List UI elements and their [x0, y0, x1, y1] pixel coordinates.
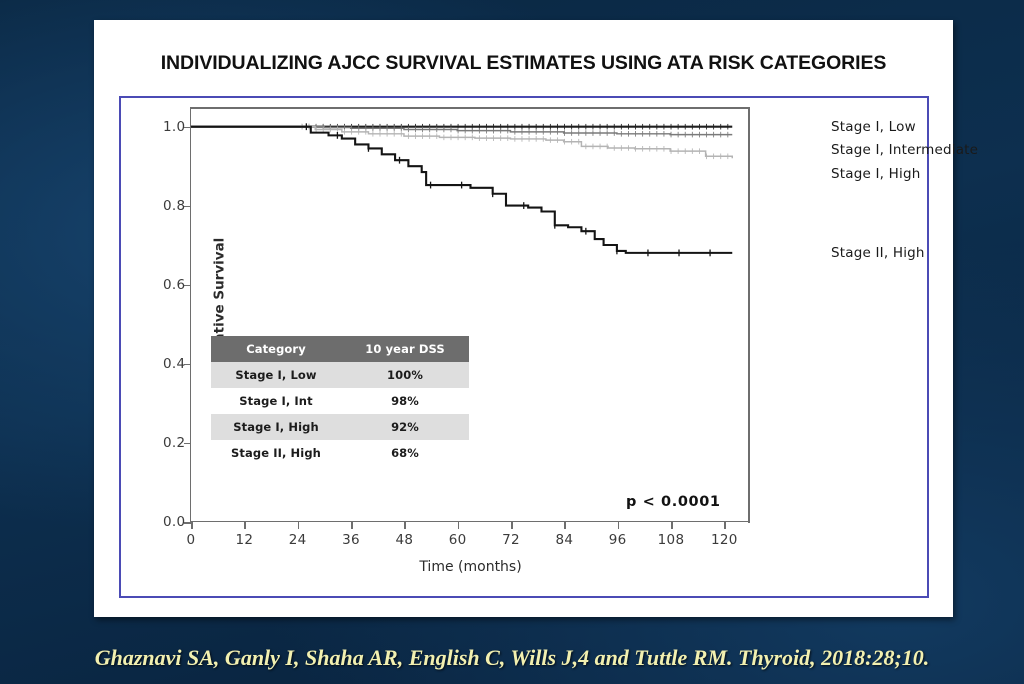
x-tick-label: 120	[711, 532, 738, 548]
x-tick-label: 0	[187, 532, 196, 548]
y-tick-label: 0.0	[163, 514, 185, 530]
x-tick	[458, 521, 460, 529]
x-tick-label: 108	[658, 532, 685, 548]
table-row: Stage I, Int98%	[211, 388, 469, 414]
table-cell-category: Stage II, High	[211, 440, 341, 466]
survival-curve	[191, 127, 732, 135]
legend-entry-3: Stage I, High	[831, 166, 921, 182]
x-tick	[298, 521, 300, 529]
x-tick-label: 36	[342, 532, 360, 548]
legend-entry-1: Stage I, Low	[831, 119, 916, 135]
table-row: Stage I, High92%	[211, 414, 469, 440]
p-value-annotation: p < 0.0001	[626, 494, 721, 510]
x-axis-title: Time (months)	[419, 559, 521, 575]
y-tick-label: 0.8	[163, 198, 185, 214]
table-header-row: Category 10 year DSS	[211, 336, 469, 362]
survival-curve	[191, 127, 732, 253]
x-tick-label: 24	[289, 532, 307, 548]
table-header-dss: 10 year DSS	[341, 336, 469, 362]
y-tick-label: 0.4	[163, 356, 185, 372]
x-tick	[191, 521, 193, 529]
table-cell-category: Stage I, Low	[211, 362, 341, 388]
table-cell-dss: 68%	[341, 440, 469, 466]
table-cell-dss: 92%	[341, 414, 469, 440]
x-tick-label: 96	[609, 532, 627, 548]
y-tick-label: 0.6	[163, 277, 185, 293]
x-tick-label: 60	[449, 532, 467, 548]
x-tick-label: 12	[235, 532, 253, 548]
censor-marks	[306, 123, 710, 256]
x-tick	[511, 521, 513, 529]
y-tick-label: 0.2	[163, 435, 185, 451]
x-tick-label: 48	[395, 532, 413, 548]
x-tick-label: 72	[502, 532, 520, 548]
legend-entry-2: Stage I, Intermediate	[831, 142, 978, 158]
legend-entry-4: Stage II, High	[831, 245, 925, 261]
chart-legend: Stage I, LowStage I, IntermediateStage I…	[831, 107, 1006, 521]
table-row: Stage I, Low100%	[211, 362, 469, 388]
citation: Ghaznavi SA, Ganly I, Shaha AR, English …	[0, 645, 1024, 671]
x-tick	[564, 521, 566, 529]
slide-card: INDIVIDUALIZING AJCC SURVIVAL ESTIMATES …	[94, 20, 953, 617]
x-tick	[244, 521, 246, 529]
x-tick	[671, 521, 673, 529]
page-title: INDIVIDUALIZING AJCC SURVIVAL ESTIMATES …	[94, 52, 953, 75]
x-tick	[351, 521, 353, 529]
table-header-category: Category	[211, 336, 341, 362]
x-tick-label: 84	[555, 532, 573, 548]
survival-curve	[191, 127, 732, 159]
x-tick	[724, 521, 726, 529]
x-tick	[404, 521, 406, 529]
dss-summary-table: Category 10 year DSS Stage I, Low100%Sta…	[211, 336, 469, 466]
table-cell-category: Stage I, Int	[211, 388, 341, 414]
y-tick-label: 1.0	[163, 119, 185, 135]
chart-frame: Cumulative Survival Time (months) 0.00.2…	[119, 96, 929, 598]
table-cell-dss: 100%	[341, 362, 469, 388]
table-cell-category: Stage I, High	[211, 414, 341, 440]
x-tick	[618, 521, 620, 529]
table-body: Stage I, Low100%Stage I, Int98%Stage I, …	[211, 362, 469, 466]
table-cell-dss: 98%	[341, 388, 469, 414]
table-row: Stage II, High68%	[211, 440, 469, 466]
